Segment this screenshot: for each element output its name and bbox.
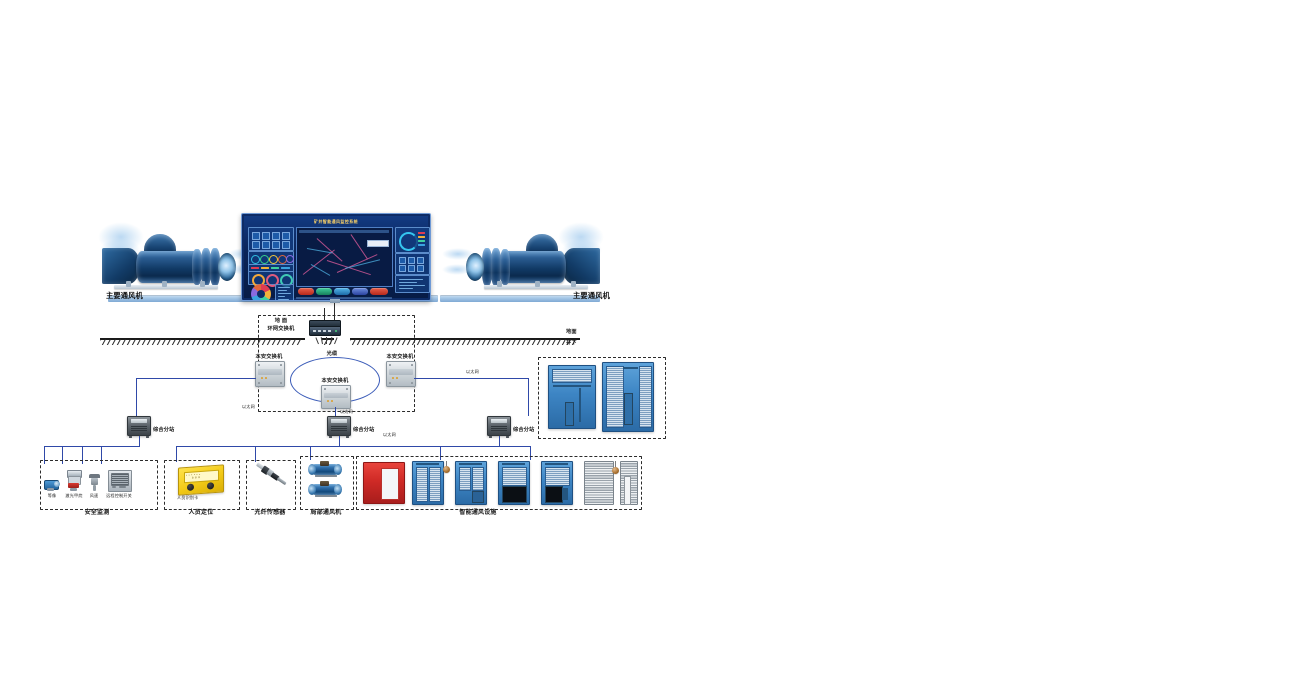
ethernet-label-2: 以太网 [340,410,353,415]
main-ventilator-left: 主要通风机 [100,218,250,298]
intrinsically-safe-switch-left[interactable] [255,361,285,387]
underground-label: 井下 [566,341,577,347]
wire-ring-to-sub-right-h [414,378,529,379]
wire-ring-to-sub-left-v [136,378,137,416]
monitor-left-gauges [248,251,294,265]
monitor-left-readout [275,284,294,301]
fan-foot-1 [126,281,131,287]
fiber-optic-fan [316,337,338,346]
integrated-substation-right[interactable] [487,416,511,436]
ventilation-facility-gray-louver-1 [584,461,614,505]
switch-bottom-label: 本安交换机 [322,379,349,385]
device-camera-label: 等像 [48,494,57,499]
wire-subcenter-down [339,436,340,446]
ground-label: 地面 [566,330,577,336]
monitor-btn-5[interactable] [370,288,388,295]
group-safety-monitoring-label: 安全监测 [85,510,110,517]
integrated-substation-left[interactable] [127,416,151,436]
intrinsically-safe-switch-right[interactable] [386,361,416,387]
monitor-btn-4[interactable] [352,288,368,295]
device-laser-methane-label: 激光甲烷 [65,494,82,499]
fan-intake-cone [562,248,600,284]
monitor-right-gauge [395,227,430,253]
group-intelligent-ventilation-label: 智能通风设施 [459,510,496,517]
diagram-canvas: 主要通风机 主要通风机 矿井智能通风监控系统 [0,0,1300,700]
wire-subright-bus [440,446,530,447]
main-ventilator-left-label: 主要通风机 [106,292,143,300]
ventilation-door-a [548,365,596,429]
device-camera-sensor [44,476,60,492]
ventilation-facility-door-2 [455,461,487,505]
monitor-screen: 矿井智能通风监控系统 [244,216,428,298]
door-counterweight-1 [443,466,450,473]
wire-ring-to-sub-right-v [528,378,529,416]
device-remote-switch-label: 远程控制开关 [106,494,132,499]
door-counterweight-2 [612,467,619,474]
group-personnel-positioning-label: 人员定位 [189,510,214,517]
fan-foot-1 [571,281,576,287]
airflow-out-2 [442,264,472,275]
intrinsically-safe-switch-bottom[interactable] [321,385,351,409]
integrated-substation-center[interactable] [327,416,351,436]
monitor-taskbar [296,297,392,299]
fan-ring-1 [500,249,510,285]
ground-ring-switch-label-line2: 环网交换机 [268,327,295,333]
switch-right-label: 本安交换机 [387,355,414,361]
wire-ring-to-sub-left-h [136,378,256,379]
ethernet-label-3: 以太网 [466,370,479,375]
monitor-title: 矿井智能通风监控系统 [244,218,428,225]
control-monitor[interactable]: 矿井智能通风监控系统 [241,213,431,301]
device-local-ventilator-2 [306,481,348,499]
ethernet-label-1: 以太网 [242,405,255,410]
group-local-ventilator-label: 局部通风机 [310,510,341,517]
ventilation-facility-door-1 [412,461,444,505]
fan-foot-2 [162,281,167,287]
switch-face [389,369,413,375]
router-antenna [324,308,325,320]
monitor-right-icons [395,253,430,275]
device-wind-speed-label: 风速 [90,494,99,499]
monitor-mine-map[interactable] [296,227,393,287]
group-fiber-sensor-label: 光纤传感器 [254,510,285,517]
main-ventilator-right-label: 主要通风机 [573,292,610,300]
device-personnel-id-card: ▪ ▪ ▪ ▪ ▪ ▪ 8 8 8 [178,464,224,495]
wire-subleft-bus [44,446,140,447]
monitor-pie-chart [251,284,271,301]
device-personnel-id-card-label: 人员识别卡 [177,496,198,501]
wire-subright-down [499,436,500,446]
ventilation-facility-red-wall [363,462,405,504]
device-local-ventilator-1 [306,461,348,479]
router-front [309,326,341,336]
ventilation-door-b [602,362,654,432]
ground-ring-switch-label-line1: 地 面 [275,319,287,325]
wire-subleft-down [139,436,140,446]
switch-face [324,393,348,399]
ground-ring-switch[interactable] [309,320,341,336]
ventilation-facility-gray-gap [624,476,631,505]
monitor-status-dials [248,271,294,285]
main-ventilator-right: 主要通风机 [452,218,602,298]
device-wind-speed-sensor [88,474,101,492]
ventilation-facility-door-3 [498,461,530,505]
fan-foot-3 [497,281,502,287]
monitor-right-readout [395,275,430,293]
substation-right-label: 综合分站 [513,428,535,434]
fan-foot-3 [200,281,205,287]
ventilation-facility-door-4 [541,461,573,505]
monitor-left-panel-top [248,227,294,251]
fan-foot-2 [535,281,540,287]
substation-center-label: 综合分站 [353,428,375,434]
device-laser-methane-sensor [66,470,82,492]
fan-intake-cone [102,248,140,284]
monitor-btn-3[interactable] [334,288,350,295]
airflow-out-1 [442,248,474,260]
monitor-btn-2[interactable] [316,288,332,295]
substation-left-label: 综合分站 [153,428,175,434]
monitor-btn-1[interactable] [298,288,314,295]
ethernet-label-4: 以太网 [383,433,396,438]
switch-face [258,369,282,375]
device-remote-control-switch [108,470,130,492]
switch-left-label: 本安交换机 [256,355,283,361]
